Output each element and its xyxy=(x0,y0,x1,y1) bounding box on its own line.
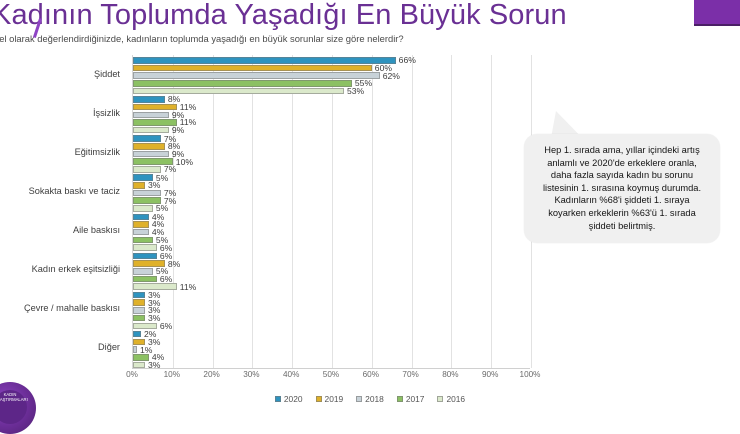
bar-row: 8% xyxy=(133,143,530,150)
bar-group: 8%11%9%11%9% xyxy=(133,96,530,134)
bar-row: 5% xyxy=(133,174,530,181)
bar-value-label: 6% xyxy=(157,274,172,284)
legend-label: 2020 xyxy=(284,394,303,404)
bar-row: 6% xyxy=(133,244,530,251)
x-axis-line xyxy=(132,368,530,369)
legend-item[interactable]: 2020 xyxy=(275,394,303,404)
x-tick-label: 50% xyxy=(323,370,339,379)
bar-row: 2% xyxy=(133,331,530,338)
bar-group: 5%3%7%7%5% xyxy=(133,174,530,212)
bar[interactable] xyxy=(133,190,161,197)
bar-value-label: 3% xyxy=(145,180,160,190)
category-label: Eğitimsizlik xyxy=(75,147,120,157)
category-label: İşsizlik xyxy=(93,108,120,118)
bar-value-label: 6% xyxy=(157,321,172,331)
bar[interactable] xyxy=(133,292,145,299)
bar[interactable] xyxy=(133,253,157,260)
category-axis: ŞiddetİşsizlikEğitimsizlikSokakta baskı … xyxy=(0,55,126,368)
bar-group: 6%8%5%6%11% xyxy=(133,253,530,291)
legend-swatch xyxy=(316,396,322,402)
bar-group: 3%3%3%3%6% xyxy=(133,292,530,330)
bar-row: 3% xyxy=(133,315,530,322)
category-label: Aile baskısı xyxy=(73,225,120,235)
bar[interactable] xyxy=(133,331,141,338)
x-tick-label: 10% xyxy=(164,370,180,379)
bar-row: 11% xyxy=(133,104,530,111)
bar-row: 3% xyxy=(133,307,530,314)
bar[interactable] xyxy=(133,244,157,251)
x-tick-label: 40% xyxy=(283,370,299,379)
category-label: Diğer xyxy=(98,342,120,352)
bar-group: 66%60%62%55%53% xyxy=(133,57,530,95)
legend-label: 2016 xyxy=(446,394,465,404)
bar-row: 4% xyxy=(133,214,530,221)
bar-row: 66% xyxy=(133,57,530,64)
page-subtitle: nel olarak değerlendirdiğinizde, kadınla… xyxy=(0,33,514,45)
bar-row: 53% xyxy=(133,88,530,95)
legend-item[interactable]: 2016 xyxy=(437,394,465,404)
bar-row: 3% xyxy=(133,299,530,306)
bar-row: 5% xyxy=(133,237,530,244)
bar-group: 7%8%9%10%7% xyxy=(133,135,530,173)
x-tick-label: 60% xyxy=(363,370,379,379)
bar-row: 3% xyxy=(133,182,530,189)
bar-row: 62% xyxy=(133,72,530,79)
legend-item[interactable]: 2018 xyxy=(356,394,384,404)
bar-row: 3% xyxy=(133,339,530,346)
bar-group: 4%4%4%5%6% xyxy=(133,214,530,252)
bar[interactable] xyxy=(133,237,153,244)
bar-row: 5% xyxy=(133,205,530,212)
bar-row: 7% xyxy=(133,197,530,204)
bar[interactable] xyxy=(133,268,153,275)
bar-row: 4% xyxy=(133,221,530,228)
bar[interactable] xyxy=(133,307,145,314)
legend-label: 2017 xyxy=(406,394,425,404)
x-tick-label: 0% xyxy=(126,370,138,379)
bar-row: 6% xyxy=(133,323,530,330)
bar[interactable] xyxy=(133,276,157,283)
x-tick-label: 90% xyxy=(482,370,498,379)
bar-row: 11% xyxy=(133,283,530,290)
bar[interactable] xyxy=(133,72,380,79)
x-tick-label: 30% xyxy=(243,370,259,379)
bar[interactable] xyxy=(133,112,169,119)
category-label: Kadın erkek eşitsizliği xyxy=(32,264,120,274)
organization-logo: KADIN ARAŞTIRMALARI xyxy=(0,382,36,434)
bar[interactable] xyxy=(133,182,145,189)
bar[interactable] xyxy=(133,299,145,306)
bar-row: 7% xyxy=(133,190,530,197)
legend-swatch xyxy=(275,396,281,402)
bar-row: 4% xyxy=(133,354,530,361)
bar-row: 8% xyxy=(133,260,530,267)
bar-row: 5% xyxy=(133,268,530,275)
legend-swatch xyxy=(356,396,362,402)
logo-text: KADIN ARAŞTIRMALARI xyxy=(0,392,26,402)
legend-swatch xyxy=(397,396,403,402)
bar[interactable] xyxy=(133,221,149,228)
bar[interactable] xyxy=(133,57,396,64)
bar-row: 6% xyxy=(133,253,530,260)
bar-value-label: 11% xyxy=(177,281,197,291)
bar[interactable] xyxy=(133,80,352,87)
legend-swatch xyxy=(437,396,443,402)
bar[interactable] xyxy=(133,315,145,322)
purple-accent-tab xyxy=(694,0,740,26)
bar[interactable] xyxy=(133,151,169,158)
bar-row: 10% xyxy=(133,158,530,165)
slide-canvas: Kadının Toplumda Yaşadığı En Büyük Sorun… xyxy=(0,0,740,417)
bar-row: 1% xyxy=(133,346,530,353)
bar[interactable] xyxy=(133,214,149,221)
bar-row: 55% xyxy=(133,80,530,87)
category-label: Sokakta baskı ve taciz xyxy=(29,186,120,196)
bar-row: 7% xyxy=(133,135,530,142)
bar-row: 3% xyxy=(133,292,530,299)
chart-plot-area: 66%60%62%55%53%8%11%9%11%9%7%8%9%10%7%5%… xyxy=(132,55,530,368)
bar[interactable] xyxy=(133,65,372,72)
callout-box: Hep 1. sırada ama, yıllar içindeki artış… xyxy=(524,134,720,243)
bar[interactable] xyxy=(133,96,165,103)
x-axis-ticks: 0%10%20%30%40%50%60%70%80%90%100% xyxy=(0,370,740,384)
bar[interactable] xyxy=(133,135,161,142)
x-tick-label: 70% xyxy=(402,370,418,379)
bar-row: 7% xyxy=(133,166,530,173)
legend-item[interactable]: 2019 xyxy=(316,394,344,404)
bar-row: 11% xyxy=(133,119,530,126)
x-tick-label: 100% xyxy=(520,370,541,379)
bar[interactable] xyxy=(133,143,165,150)
legend-label: 2018 xyxy=(365,394,384,404)
bar-value-label: 53% xyxy=(344,86,364,96)
x-tick-label: 20% xyxy=(203,370,219,379)
bar-row: 60% xyxy=(133,65,530,72)
x-tick-label: 80% xyxy=(442,370,458,379)
bar-row: 9% xyxy=(133,127,530,134)
legend-item[interactable]: 2017 xyxy=(397,394,425,404)
category-label: Çevre / mahalle baskısı xyxy=(24,303,120,313)
bar-value-label: 66% xyxy=(396,55,416,65)
bar[interactable] xyxy=(133,229,149,236)
category-label: Şiddet xyxy=(94,69,120,79)
bar-row: 4% xyxy=(133,229,530,236)
chart-legend: 20202019201820172016 xyxy=(0,392,740,406)
bar-value-label: 62% xyxy=(380,70,400,80)
page-title: Kadının Toplumda Yaşadığı En Büyük Sorun xyxy=(0,0,592,32)
bar-group: 2%3%1%4%3% xyxy=(133,331,530,369)
legend-label: 2019 xyxy=(325,394,344,404)
